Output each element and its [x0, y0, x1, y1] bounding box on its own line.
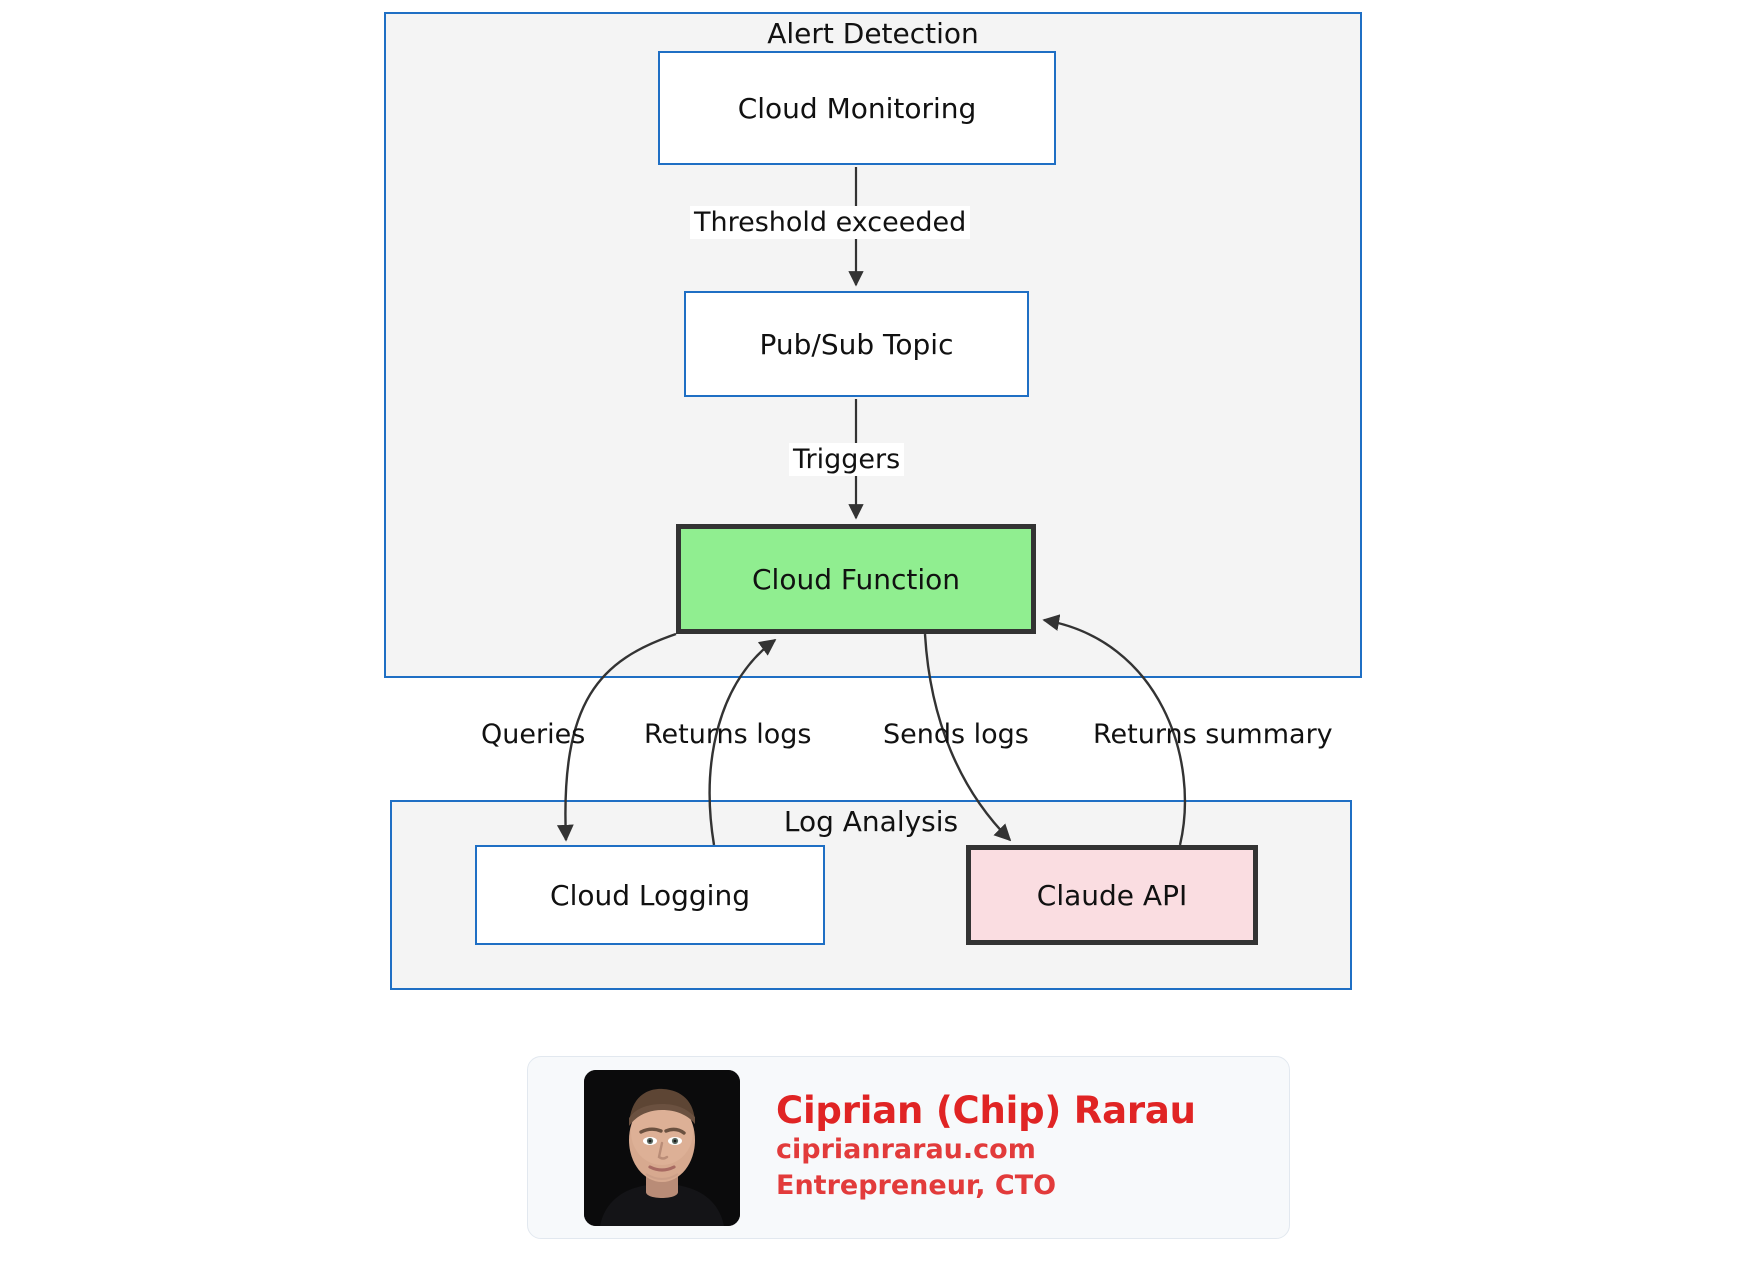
node-cloud-monitoring[interactable]: Cloud Monitoring — [658, 51, 1056, 165]
edge-label-threshold-exceeded: Threshold exceeded — [690, 206, 970, 239]
node-label: Cloud Logging — [550, 879, 750, 912]
author-role: Entrepreneur, CTO — [776, 1168, 1196, 1204]
node-label: Pub/Sub Topic — [760, 328, 954, 361]
node-claude-api[interactable]: Claude API — [966, 845, 1258, 945]
subgraph-title-log-analysis: Log Analysis — [392, 800, 1350, 836]
edge-label-queries: Queries — [477, 718, 589, 751]
node-cloud-logging[interactable]: Cloud Logging — [475, 845, 825, 945]
node-pubsub-topic[interactable]: Pub/Sub Topic — [684, 291, 1029, 397]
edge-label-triggers: Triggers — [789, 443, 904, 476]
node-label: Cloud Monitoring — [738, 92, 977, 125]
edge-label-sends-logs: Sends logs — [879, 718, 1033, 751]
node-label: Claude API — [1037, 879, 1187, 912]
subgraph-title-alert-detection: Alert Detection — [386, 12, 1360, 48]
node-label: Cloud Function — [752, 563, 960, 596]
author-website[interactable]: ciprianrarau.com — [776, 1132, 1196, 1168]
author-details: Ciprian (Chip) Rarau ciprianrarau.com En… — [776, 1090, 1196, 1204]
edge-label-returns-summary: Returns summary — [1089, 718, 1337, 751]
edge-label-returns-logs: Returns logs — [640, 718, 815, 751]
author-name: Ciprian (Chip) Rarau — [776, 1090, 1196, 1131]
avatar — [584, 1070, 740, 1226]
diagram-canvas: Alert Detection Log Analysis Cloud Monit… — [0, 0, 1760, 1280]
node-cloud-function[interactable]: Cloud Function — [676, 524, 1036, 634]
author-card[interactable]: Ciprian (Chip) Rarau ciprianrarau.com En… — [527, 1056, 1290, 1239]
